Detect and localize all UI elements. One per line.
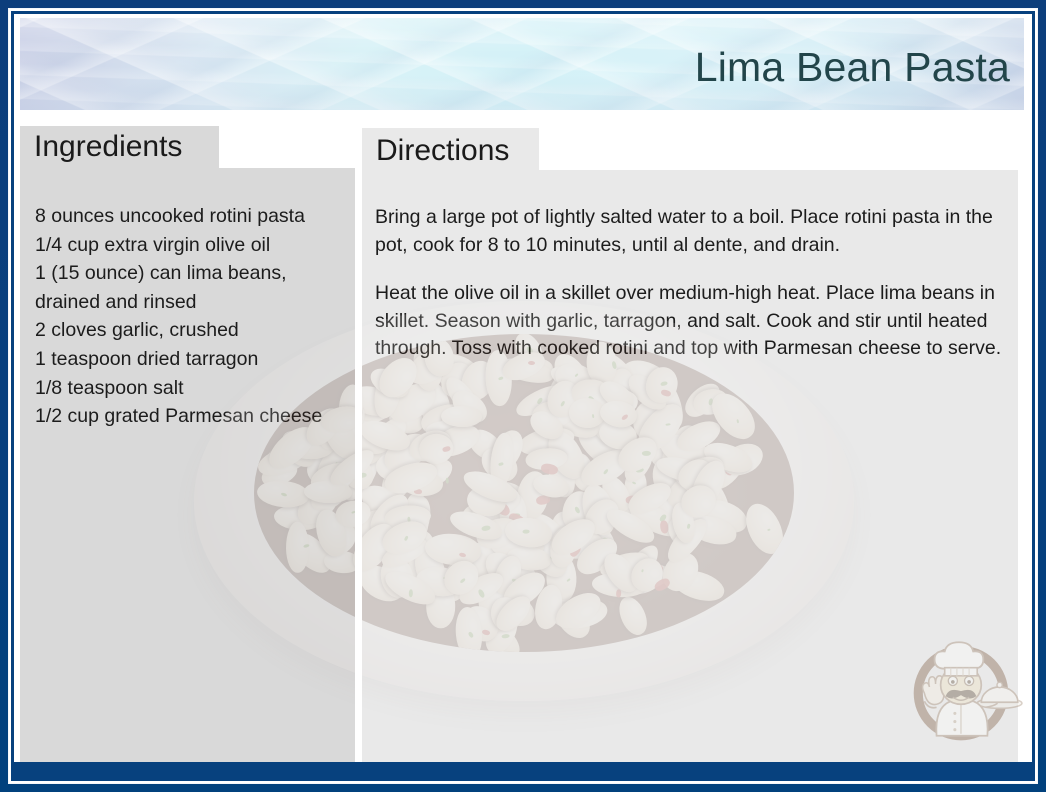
recipe-card: Lima Bean Pasta Ingredients 8 ounces unc… <box>0 0 1046 792</box>
directions-panel: Directions Bring a large pot of lightly … <box>362 128 1018 762</box>
ingredients-list: 8 ounces uncooked rotini pasta 1/4 cup e… <box>35 202 365 431</box>
direction-paragraph: Heat the olive oil in a skillet over med… <box>375 280 1029 363</box>
card-page: Lima Bean Pasta Ingredients 8 ounces unc… <box>14 14 1032 762</box>
direction-paragraph: Bring a large pot of lightly salted wate… <box>375 204 1029 259</box>
list-item: 1/8 teaspoon salt <box>35 374 365 403</box>
column-divider <box>355 126 362 762</box>
list-item: 1 (15 ounce) can lima beans, drained and… <box>35 259 365 316</box>
directions-tab-cut <box>539 128 1018 170</box>
ingredients-panel: Ingredients 8 ounces uncooked rotini pas… <box>20 126 361 762</box>
list-item: 1/2 cup grated Parmesan cheese <box>35 402 365 431</box>
ingredients-tab-cut <box>219 126 361 168</box>
directions-text: Bring a large pot of lightly salted wate… <box>375 204 1029 363</box>
ingredients-heading: Ingredients <box>34 126 182 168</box>
list-item: 2 cloves garlic, crushed <box>35 316 365 345</box>
header-banner: Lima Bean Pasta <box>20 18 1024 110</box>
list-item: 1 teaspoon dried tarragon <box>35 345 365 374</box>
page-title: Lima Bean Pasta <box>695 44 1010 90</box>
directions-heading: Directions <box>376 130 509 172</box>
list-item: 1/4 cup extra virgin olive oil <box>35 231 365 260</box>
list-item: 8 ounces uncooked rotini pasta <box>35 202 365 231</box>
